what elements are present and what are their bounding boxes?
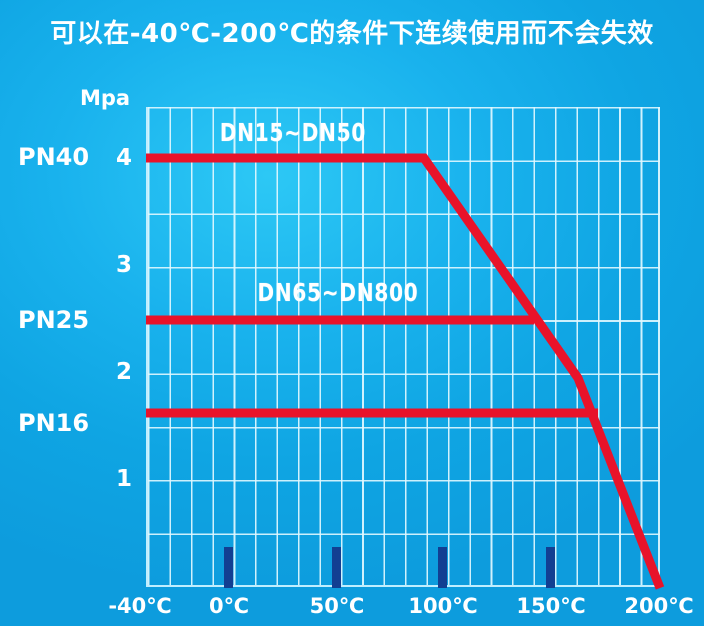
x-tick-150: 150℃ xyxy=(516,594,585,618)
series-label-dn65-dn800: DN65~DN800 xyxy=(257,278,418,307)
x-tick-neg40: -40℃ xyxy=(108,594,171,618)
grid-right-edge xyxy=(658,107,660,585)
x-tick-200: 200℃ xyxy=(624,594,693,618)
x-tick-50: 50℃ xyxy=(310,594,365,618)
y-tick-3: 3 xyxy=(98,252,132,278)
y-tick-2: 2 xyxy=(98,359,132,385)
page-title: 可以在-40℃-200℃的条件下连续使用而不会失效 xyxy=(0,13,704,50)
x-tick-0: 0℃ xyxy=(209,594,249,618)
plot-area xyxy=(146,107,660,587)
y-tick-1: 1 xyxy=(98,466,132,492)
series-label-dn15-dn50: DN15~DN50 xyxy=(220,118,366,147)
x-tick-100: 100℃ xyxy=(408,594,477,618)
chart-page: 可以在-40℃-200℃的条件下连续使用而不会失效 Mpa 4 3 2 1 PN… xyxy=(0,0,704,626)
y-axis-unit-label: Mpa xyxy=(80,86,130,110)
pn-label-pn40: PN40 xyxy=(18,143,128,171)
pn-label-pn25: PN25 xyxy=(18,306,128,334)
pn-label-pn16: PN16 xyxy=(18,409,128,437)
